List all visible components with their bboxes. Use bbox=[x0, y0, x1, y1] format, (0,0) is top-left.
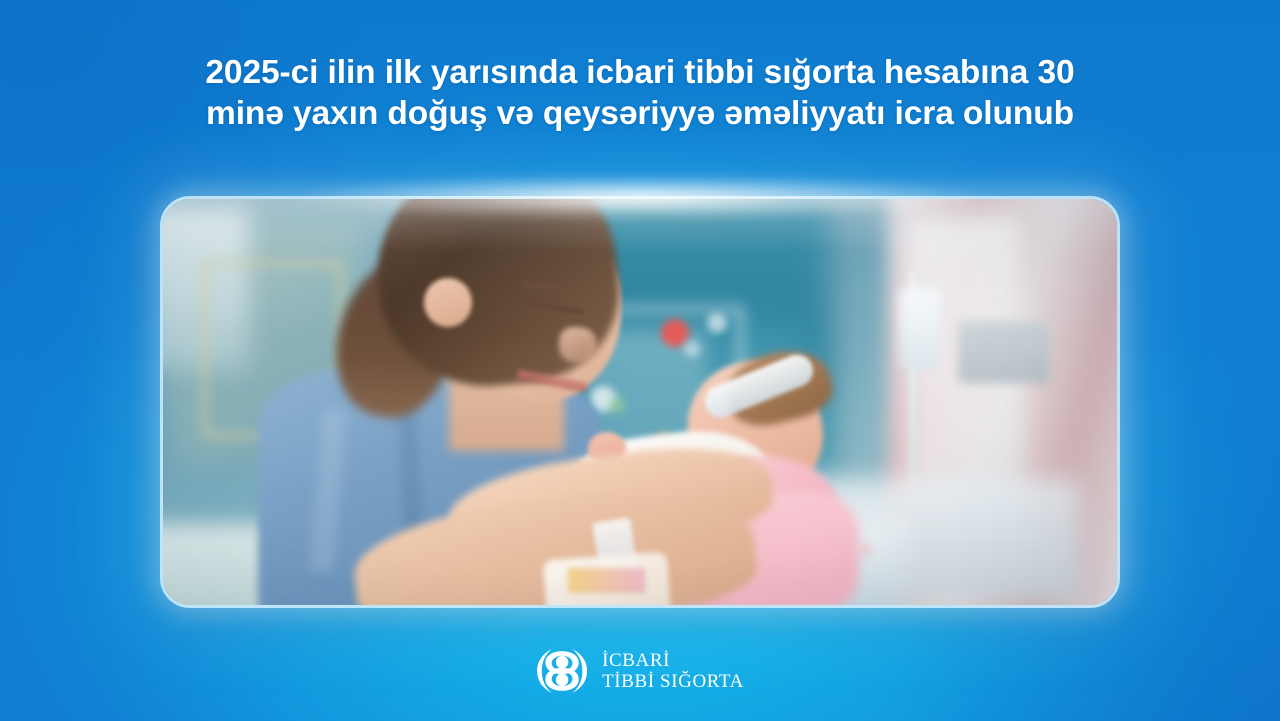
photo-iv-pump bbox=[958, 321, 1050, 383]
photo-card bbox=[160, 196, 1120, 608]
photo-nurse-ear bbox=[424, 278, 472, 327]
brand-logo-line-1: İCBARİ bbox=[602, 650, 744, 671]
brand-logo-line-2: TİBBİ SIĞORTA bbox=[602, 671, 744, 692]
photo-image bbox=[163, 199, 1117, 605]
brand-logo: İCBARİ TİBBİ SIĞORTA bbox=[536, 645, 744, 697]
announcement-banner: 2025-ci ilin ilk yarısında icbari tibbi … bbox=[0, 0, 1280, 721]
photo-bokeh-red bbox=[661, 319, 689, 347]
photo-iv-bag bbox=[899, 288, 941, 370]
headline: 2025-ci ilin ilk yarısında icbari tibbi … bbox=[0, 52, 1280, 134]
photo-bokeh-white-2 bbox=[684, 341, 700, 357]
photo-baby-bottle-label bbox=[568, 568, 644, 592]
brand-logo-text: İCBARİ TİBBİ SIĞORTA bbox=[602, 650, 744, 693]
photo-bokeh-green bbox=[608, 396, 626, 414]
headline-line-1: 2025-ci ilin ilk yarısında icbari tibbi … bbox=[100, 52, 1180, 93]
icbari-tibbi-sigorta-logo-icon bbox=[536, 645, 588, 697]
photo-bokeh-white-1 bbox=[707, 313, 727, 333]
headline-line-2: minə yaxın doğuş və qeysəriyyə əməliyyat… bbox=[100, 93, 1180, 134]
